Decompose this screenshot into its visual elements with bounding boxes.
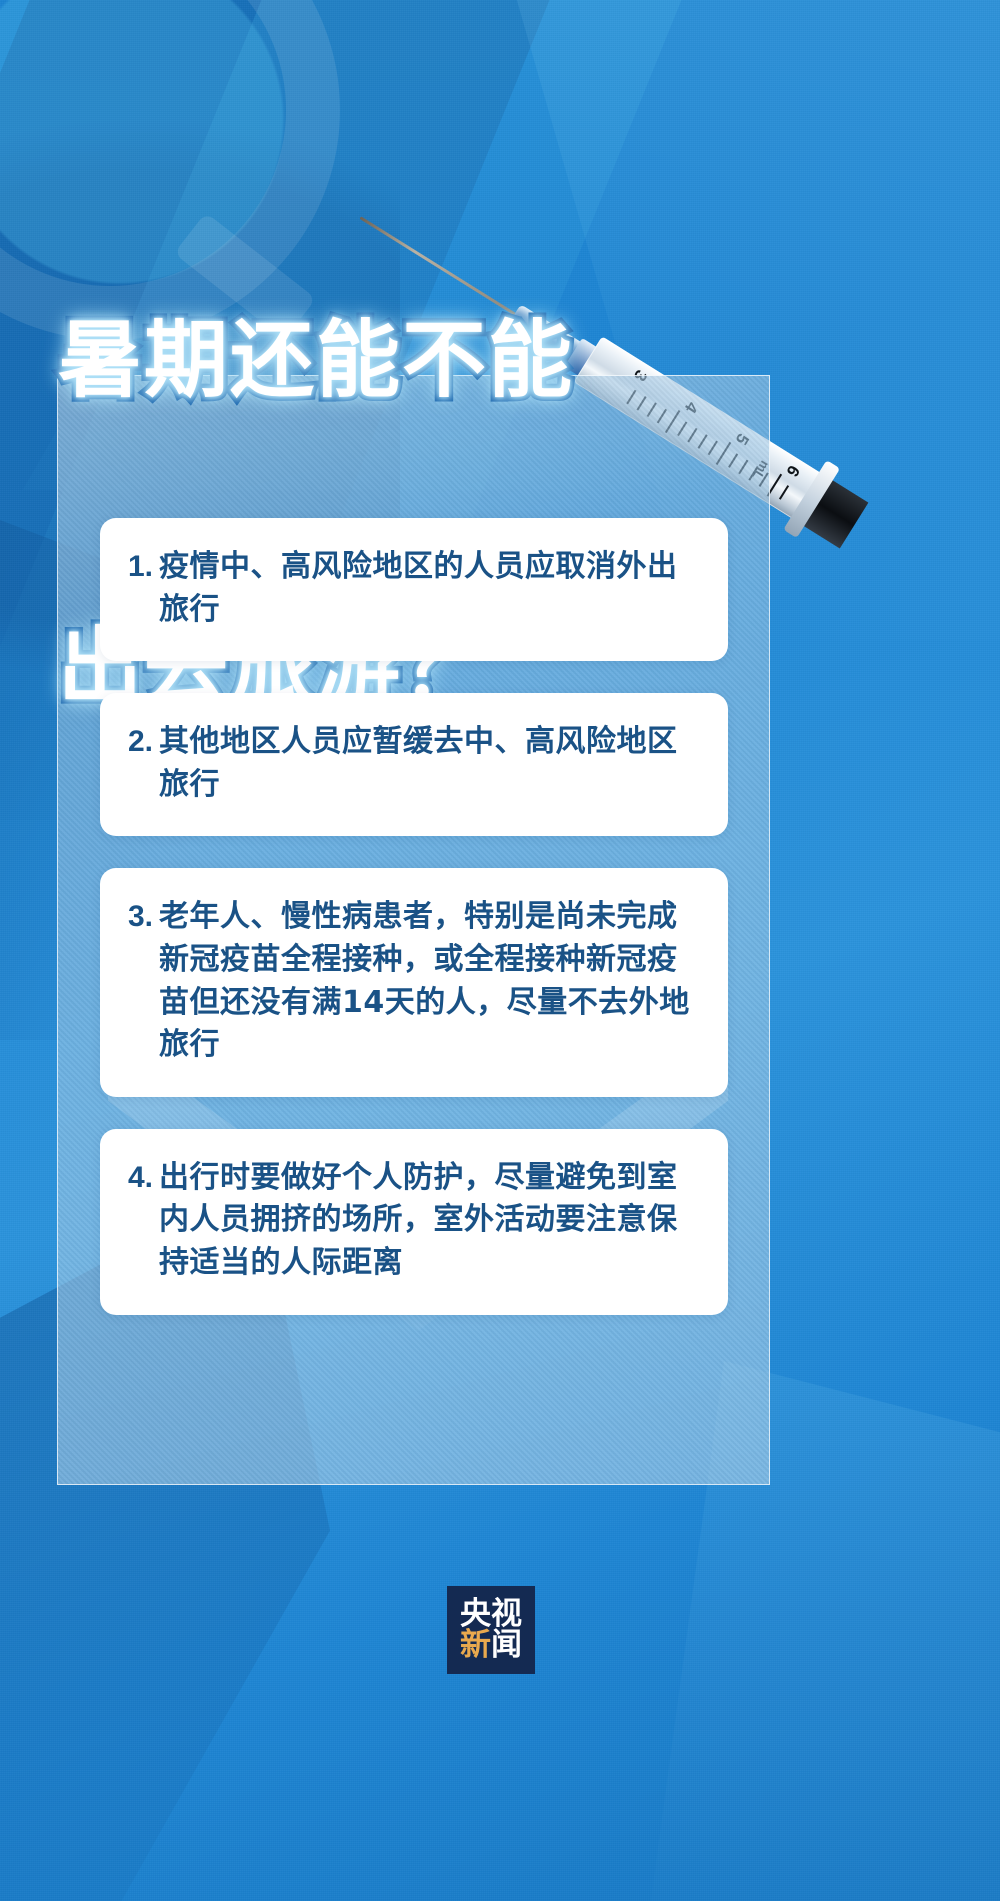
advice-card: 4. 出行时要做好个人防护，尽量避免到室内人员拥挤的场所，室外活动要注意保持适当…	[100, 1129, 728, 1315]
card-text: 出行时要做好个人防护，尽量避免到室内人员拥挤的场所，室外活动要注意保持适当的人际…	[159, 1157, 698, 1285]
logo-text-yangshi: 央视	[460, 1599, 522, 1630]
cctv-news-logo: 央视 新 闻	[447, 1586, 535, 1674]
advice-card: 3. 老年人、慢性病患者，特别是尚未完成新冠疫苗全程接种，或全程接种新冠疫苗但还…	[100, 868, 728, 1096]
advice-card-list: 1. 疫情中、高风险地区的人员应取消外出旅行 2. 其他地区人员应暂缓去中、高风…	[100, 518, 728, 1347]
card-number: 3.	[128, 896, 159, 939]
card-number: 2.	[128, 721, 159, 764]
advice-card: 2. 其他地区人员应暂缓去中、高风险地区旅行	[100, 693, 728, 836]
card-number: 4.	[128, 1157, 159, 1200]
poster-root: 3 4 5 6 mL 暑期还能不能 出去旅游？ 1. 疫情中、高风险地区的人员应…	[0, 0, 1000, 1901]
advice-card: 1. 疫情中、高风险地区的人员应取消外出旅行	[100, 518, 728, 661]
card-number: 1.	[128, 546, 159, 589]
logo-line-1: 央视	[460, 1599, 522, 1630]
title-line-1: 暑期还能不能	[58, 309, 574, 411]
logo-text-wen: 闻	[491, 1630, 522, 1661]
logo-text-xin: 新	[460, 1630, 491, 1661]
card-text: 老年人、慢性病患者，特别是尚未完成新冠疫苗全程接种，或全程接种新冠疫苗但还没有满…	[159, 896, 698, 1066]
card-text: 疫情中、高风险地区的人员应取消外出旅行	[159, 546, 698, 631]
card-text: 其他地区人员应暂缓去中、高风险地区旅行	[159, 721, 698, 806]
logo-line-2: 新 闻	[460, 1630, 522, 1661]
